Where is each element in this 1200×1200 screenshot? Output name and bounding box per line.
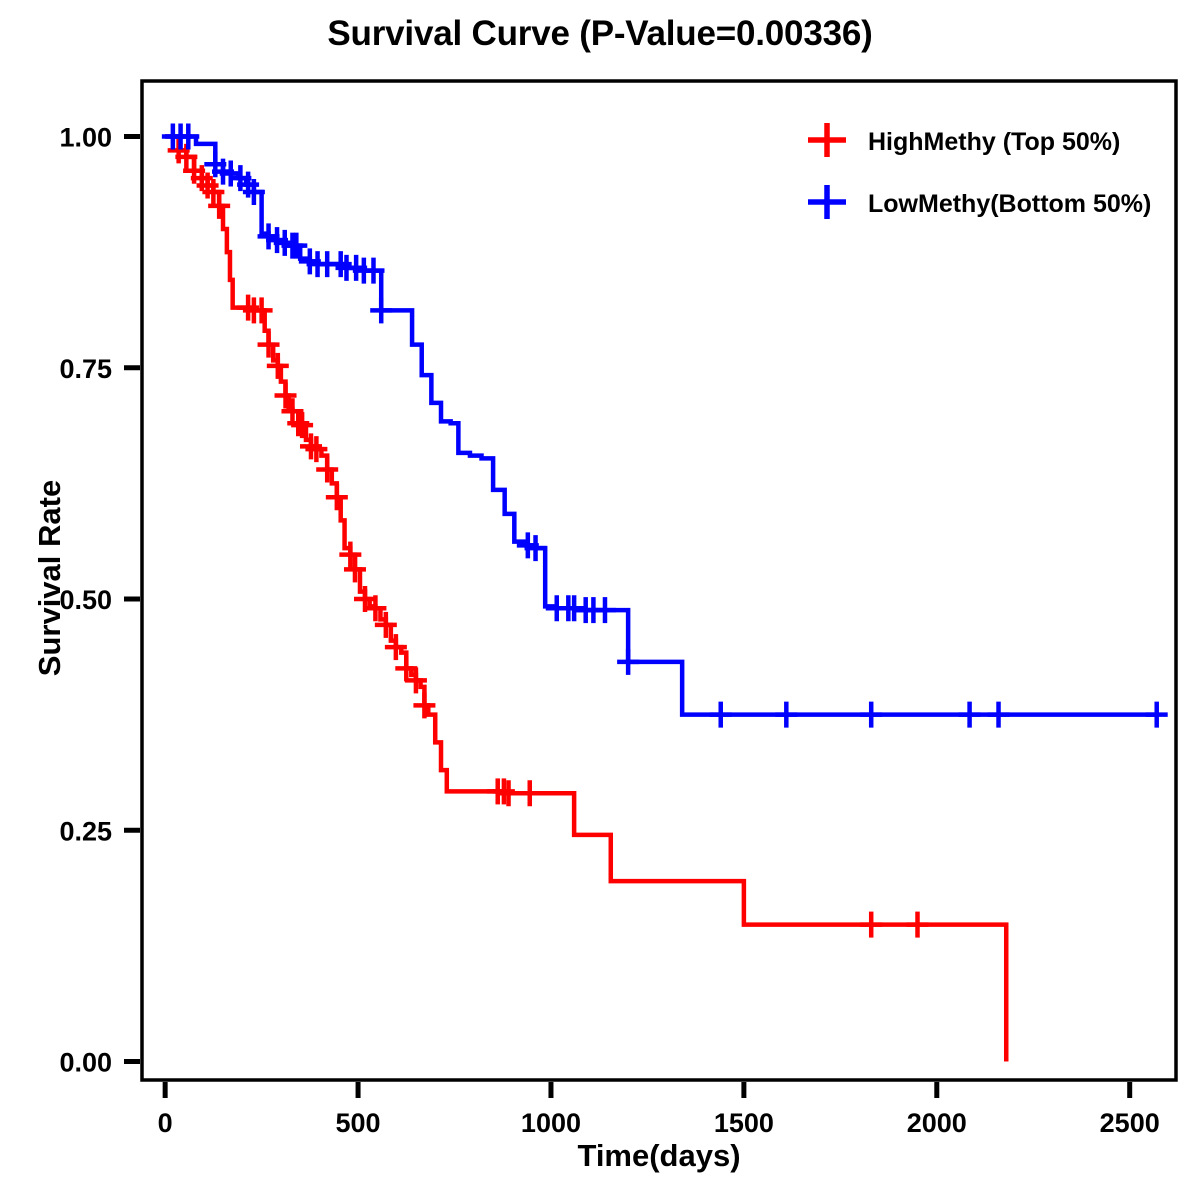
x-tick-label: 1500 [714,1108,774,1138]
censor-mark [498,780,520,806]
censor-mark [375,612,397,638]
censor-mark [344,556,366,582]
legend-item-1[interactable]: LowMethy(Bottom 50%) [808,185,1151,219]
survival-curves [162,124,1168,1062]
legend-plus-icon [808,123,846,157]
censor-mark [860,702,882,728]
censor-mark [988,702,1010,728]
censor-mark [385,634,407,660]
censor-mark [617,649,639,675]
censor-mark [316,457,338,483]
censor-mark [907,912,929,938]
legend-label: HighMethy (Top 50%) [868,128,1120,156]
y-tick-label: 0.75 [59,354,112,384]
x-tick-label: 0 [158,1108,173,1138]
legend: HighMethy (Top 50%)LowMethy(Bottom 50%) [808,123,1151,219]
y-axis-ticks: 0.000.250.500.751.00 [59,123,140,1078]
censor-mark [326,484,348,510]
y-tick-label: 0.00 [59,1048,112,1078]
censor-mark [775,702,797,728]
x-tick-label: 2000 [907,1108,967,1138]
censor-mark [285,233,307,259]
x-tick-label: 500 [336,1108,381,1138]
censor-mark [594,597,616,623]
y-tick-label: 1.00 [59,123,112,153]
x-tick-label: 2500 [1100,1108,1160,1138]
legend-item-0[interactable]: HighMethy (Top 50%) [808,123,1120,157]
censor-mark [370,297,392,323]
x-tick-label: 1000 [521,1108,581,1138]
plot-frame [142,81,1176,1080]
x-axis-ticks: 05001000150020002500 [158,1082,1160,1138]
censor-mark [519,780,541,806]
y-tick-label: 0.50 [59,585,112,615]
censor-mark [860,912,882,938]
survival-line [165,137,1157,715]
survival-curve-figure: Survival Curve (P-Value=0.00336) Surviva… [0,0,1200,1200]
censor-mark [1146,702,1168,728]
legend-label: LowMethy(Bottom 50%) [868,190,1151,218]
censor-mark [710,702,732,728]
legend-plus-icon [808,185,846,219]
censor-mark [959,702,981,728]
plot-area: 05001000150020002500 0.000.250.500.751.0… [0,0,1200,1200]
y-tick-label: 0.25 [59,816,112,846]
